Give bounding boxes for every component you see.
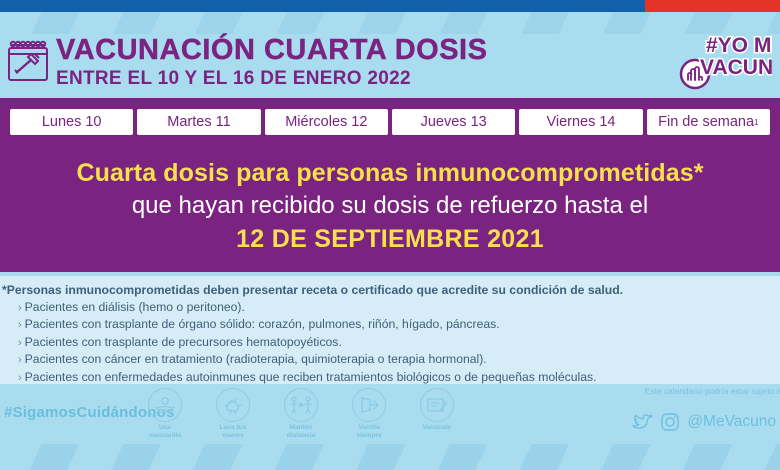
main-message-block: Cuarta dosis para personas inmunocomprom… [0, 146, 780, 272]
day-tab-jueves[interactable]: Jueves 13 [392, 109, 515, 135]
day-tab-label: Miércoles 12 [285, 114, 367, 130]
logo-line2: VACUNO [700, 56, 772, 79]
day-tab-footnote-marker: 1 [754, 118, 758, 127]
face-mask-icon [148, 388, 182, 422]
social-links: @MeVacuno [631, 412, 776, 432]
day-tab-martes[interactable]: Martes 11 [137, 109, 260, 135]
day-tab-lunes[interactable]: Lunes 10 [10, 109, 133, 135]
day-tab-label: Jueves 13 [421, 114, 487, 130]
chevron-right-icon: › [18, 354, 22, 366]
calendar-disclaimer: Este calendario podría estar sujeto a ca… [645, 386, 780, 396]
care-item-label: Manténdistancia [276, 424, 326, 439]
page-title: VACUNACIÓN CUARTA DOSIS [56, 34, 487, 66]
day-tab-label: Martes 11 [167, 114, 230, 130]
day-tab-label: Viernes 14 [546, 114, 615, 130]
chevron-right-icon: › [18, 372, 22, 384]
message-line-1: Cuarta dosis para personas inmunocomprom… [0, 158, 780, 189]
wash-hands-icon [216, 388, 250, 422]
flag-red-segment [645, 0, 780, 12]
day-tab-miercoles[interactable]: Miércoles 12 [265, 109, 388, 135]
list-item-label: Pacientes con trasplante de precursores … [25, 335, 342, 349]
message-line-3: 12 DE SEPTIEMBRE 2021 [0, 224, 780, 255]
page-subtitle: ENTRE EL 10 Y EL 16 DE ENERO 2022 [56, 67, 487, 90]
yo-me-vacuno-logo: #YO ME VACUNO [666, 30, 772, 92]
instagram-icon[interactable] [660, 412, 680, 432]
social-handle[interactable]: @MeVacuno [687, 413, 776, 431]
list-item-label: Pacientes con cáncer en tratamiento (rad… [25, 352, 487, 366]
day-tab-label: Fin de semana [658, 114, 754, 130]
chevron-right-icon: › [18, 319, 22, 331]
top-flag-bar [0, 0, 780, 12]
care-item-label: Usamascarilla [140, 424, 190, 439]
list-item: ›Pacientes con cáncer en tratamiento (ra… [2, 351, 772, 369]
message-line-2: que hayan recibido su dosis de refuerzo … [0, 190, 780, 222]
header-stripe-pattern [0, 12, 780, 34]
care-item-ventila: Ventilasiempre [344, 388, 394, 439]
day-tab-viernes[interactable]: Viernes 14 [519, 109, 642, 135]
header-banner: VACUNACIÓN CUARTA DOSIS ENTRE EL 10 Y EL… [0, 12, 780, 98]
footer-banner: #SigamosCuidándonos Usamascarilla [0, 384, 780, 470]
calendar-syringe-icon [4, 40, 52, 84]
day-tabs-bar: Lunes 10 Martes 11 Miércoles 12 Jueves 1… [0, 98, 780, 146]
day-tab-fin-de-semana[interactable]: Fin de semana1 [647, 109, 770, 135]
ventilate-icon [352, 388, 386, 422]
list-item: ›Pacientes en diálisis (hemo o peritoneo… [2, 299, 772, 317]
care-item-distancia: Manténdistancia [276, 388, 326, 439]
care-item-lavado-manos: Lava tusmanos [208, 388, 258, 439]
care-measures-group: Usamascarilla Lava tusmanos [140, 388, 462, 439]
header-title-block: VACUNACIÓN CUARTA DOSIS ENTRE EL 10 Y EL… [56, 34, 487, 90]
social-distance-icon [284, 388, 318, 422]
chevron-right-icon: › [18, 302, 22, 314]
care-item-label: Vacúnate [412, 424, 462, 432]
list-item-label: Pacientes con enfermedades autoinmunes q… [25, 370, 597, 384]
twitter-bird-icon[interactable] [631, 413, 653, 432]
care-item-label: Ventilasiempre [344, 424, 394, 439]
list-item-label: Pacientes con trasplante de órgano sólid… [25, 317, 500, 331]
care-item-mascarilla: Usamascarilla [140, 388, 190, 439]
vaccinate-card-icon [420, 388, 454, 422]
list-item: ›Pacientes con trasplante de precursores… [2, 334, 772, 352]
care-item-label: Lava tusmanos [208, 424, 258, 439]
list-item: ›Pacientes con trasplante de órgano sóli… [2, 316, 772, 334]
care-item-vacunate: Vacúnate [412, 388, 462, 439]
notes-heading: *Personas inmunocomprometidas deben pres… [2, 282, 772, 299]
footer-stripe-pattern [0, 444, 780, 470]
notes-section: *Personas inmunocomprometidas deben pres… [0, 276, 780, 384]
day-tab-label: Lunes 10 [42, 114, 102, 130]
chevron-right-icon: › [18, 337, 22, 349]
flag-blue-segment [0, 0, 645, 12]
list-item-label: Pacientes en diálisis (hemo o peritoneo)… [25, 300, 245, 314]
logo-line1: #YO ME [706, 34, 772, 57]
